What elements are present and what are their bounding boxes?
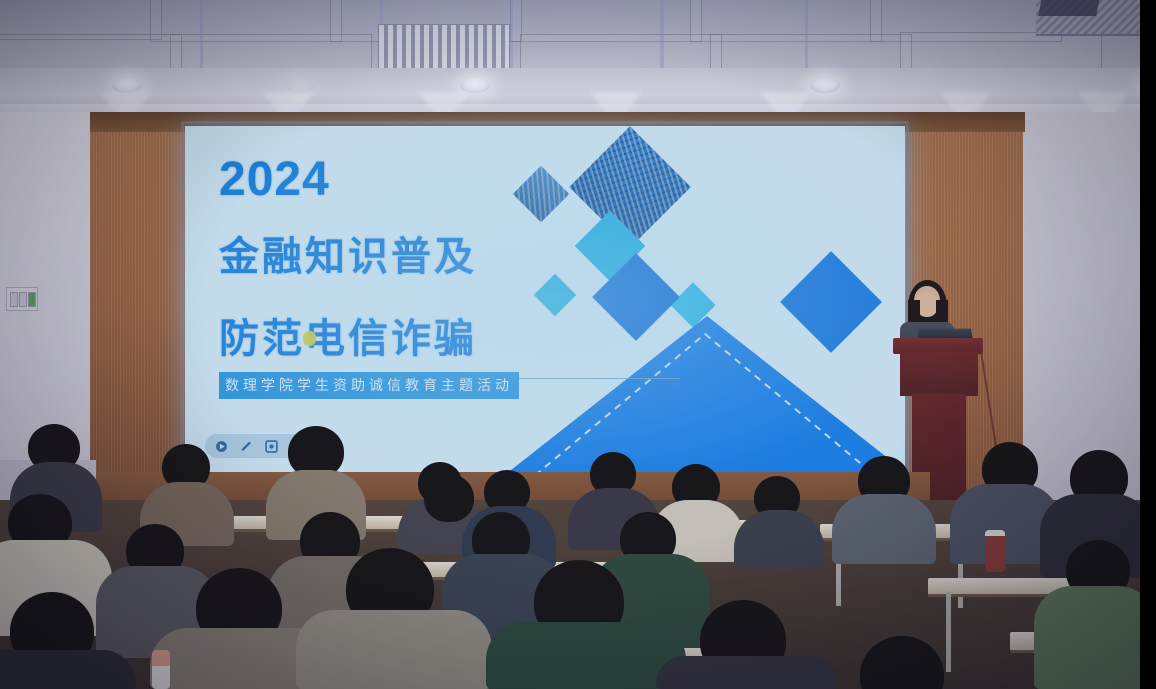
ceiling-light-panel xyxy=(378,24,510,70)
light-switch-panel[interactable] xyxy=(6,287,38,311)
tumbler xyxy=(985,530,1005,572)
right-black-bar xyxy=(1140,0,1156,689)
downlight-2 xyxy=(460,78,490,93)
lecture-hall-scene: 2024 金融知识普及 防范电信诈骗 数理学院学生资助诚信教育主题活动 xyxy=(0,0,1156,689)
ceiling-duct xyxy=(1038,0,1100,16)
downlight-1 xyxy=(112,78,142,93)
screen-frame xyxy=(181,121,909,481)
water-bottle xyxy=(152,650,170,689)
downlight-5 xyxy=(285,78,315,93)
desk-leg-3 xyxy=(946,592,951,672)
podium-body xyxy=(900,352,978,396)
ceiling xyxy=(0,0,1156,72)
downlight-3 xyxy=(810,78,840,93)
